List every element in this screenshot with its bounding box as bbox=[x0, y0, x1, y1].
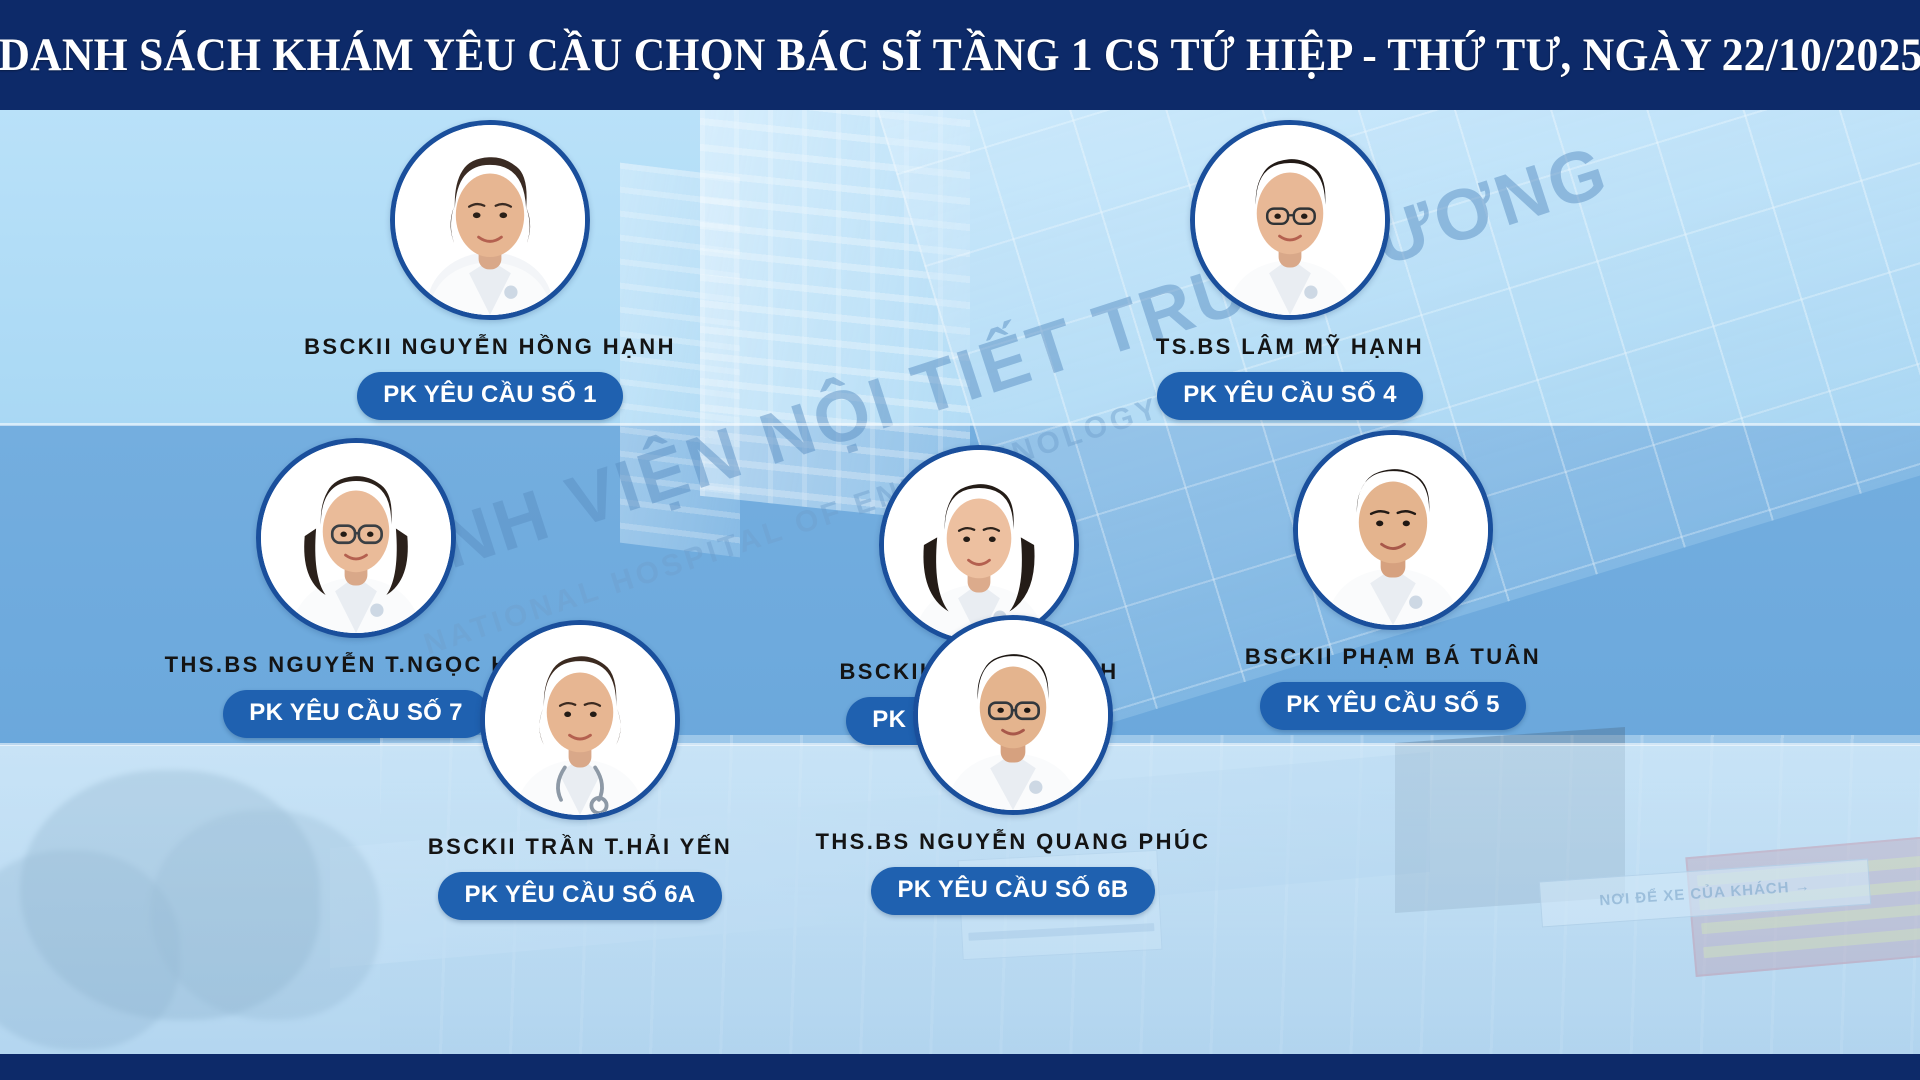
doctor-name: BSCKII PHẠM BÁ TUÂN bbox=[1245, 644, 1541, 670]
poster-header: DANH SÁCH KHÁM YÊU CẦU CHỌN BÁC SĨ TẦNG … bbox=[0, 0, 1920, 110]
page-title: DANH SÁCH KHÁM YÊU CẦU CHỌN BÁC SĨ TẦNG … bbox=[0, 28, 1920, 82]
doctor-card-grid: BSCKII NGUYỄN HỒNG HẠNH PK YÊU CẦU SỐ 1 bbox=[0, 110, 1920, 1054]
doctor-card[interactable]: BSCKII NGUYỄN HỒNG HẠNH PK YÊU CẦU SỐ 1 bbox=[320, 120, 660, 420]
doctor-card[interactable]: BSCKII PHẠM BÁ TUÂN PK YÊU CẦU SỐ 5 bbox=[1223, 430, 1563, 730]
room-badge[interactable]: PK YÊU CẦU SỐ 5 bbox=[1260, 682, 1525, 730]
doctor-schedule-poster: DANH SÁCH KHÁM YÊU CẦU CHỌN BÁC SĨ TẦNG … bbox=[0, 0, 1920, 1080]
doctor-card[interactable]: TS.BS LÂM MỸ HẠNH PK YÊU CẦU SỐ 4 bbox=[1120, 120, 1460, 420]
doctor-avatar bbox=[256, 438, 456, 638]
doctor-name: THS.BS NGUYỄN QUANG PHÚC bbox=[816, 829, 1211, 855]
doctor-card[interactable]: BSCKII TRẦN T.HẢI YẾN PK YÊU CẦU SỐ 6A bbox=[410, 620, 750, 920]
doctor-avatar bbox=[1190, 120, 1390, 320]
doctor-avatar bbox=[480, 620, 680, 820]
doctor-avatar bbox=[913, 615, 1113, 815]
doctor-card[interactable]: THS.BS NGUYỄN QUANG PHÚC PK YÊU CẦU SỐ 6… bbox=[843, 615, 1183, 915]
doctor-avatar bbox=[1293, 430, 1493, 630]
poster-footer bbox=[0, 1054, 1920, 1080]
room-badge[interactable]: PK YÊU CẦU SỐ 6B bbox=[871, 867, 1154, 915]
room-badge[interactable]: PK YÊU CẦU SỐ 6A bbox=[438, 872, 721, 920]
poster-body: BỆNH VIỆN NỘI TIẾT TRUNG ƯƠNG NATIONAL H… bbox=[0, 110, 1920, 1054]
room-badge[interactable]: PK YÊU CẦU SỐ 1 bbox=[357, 372, 622, 420]
doctor-avatar bbox=[390, 120, 590, 320]
room-badge[interactable]: PK YÊU CẦU SỐ 4 bbox=[1157, 372, 1422, 420]
doctor-name: BSCKII TRẦN T.HẢI YẾN bbox=[428, 834, 732, 860]
doctor-name: TS.BS LÂM MỸ HẠNH bbox=[1156, 334, 1424, 360]
doctor-name: BSCKII NGUYỄN HỒNG HẠNH bbox=[304, 334, 676, 360]
